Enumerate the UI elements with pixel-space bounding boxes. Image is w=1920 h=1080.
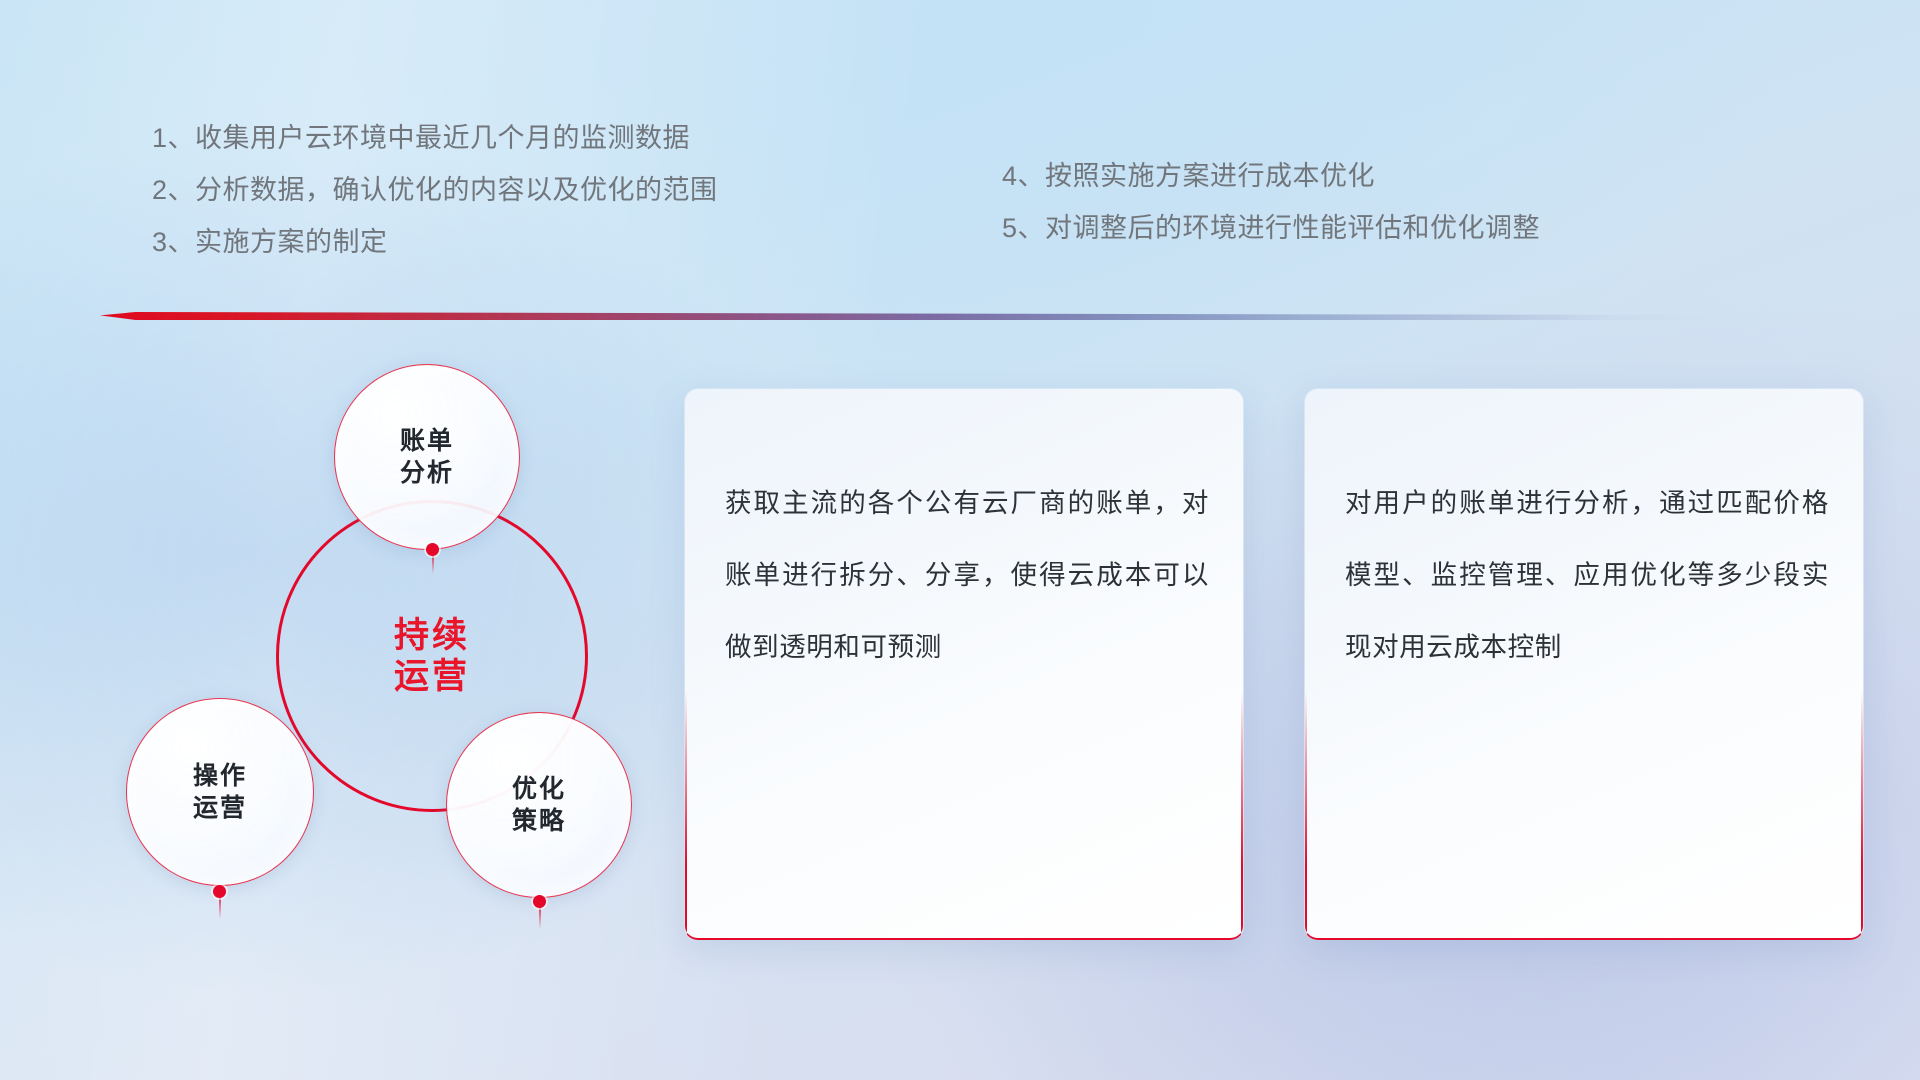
step-item: 4、按照实施方案进行成本优化 [1002, 150, 1540, 202]
diagram-bubble-optimization-strategy[interactable]: 优化 策略 [446, 712, 632, 898]
bubble-label-line2: 运营 [193, 792, 247, 824]
divider-line [100, 312, 1710, 320]
steps-right-column: 4、按照实施方案进行成本优化 5、对调整后的环境进行性能评估和优化调整 [1002, 150, 1540, 254]
info-card-cloud-cost-optimization[interactable]: 对用户的账单进行分析，通过匹配价格模型、监控管理、应用优化等多少段实现对用云成本… [1304, 388, 1864, 940]
bubble-label-line1: 操作 [193, 760, 247, 792]
slide-canvas: 1、收集用户云环境中最近几个月的监测数据 2、分析数据，确认优化的内容以及优化的… [0, 0, 1920, 1080]
step-item: 5、对调整后的环境进行性能评估和优化调整 [1002, 202, 1540, 254]
diagram-bubble-operations[interactable]: 操作 运营 [126, 698, 314, 886]
node-stem-left-icon [219, 895, 221, 919]
bubble-label-line2: 策略 [512, 805, 566, 837]
node-dot-top-icon [426, 543, 439, 556]
center-label-line2: 运营 [394, 656, 470, 697]
bubble-label-line1: 账单 [400, 425, 454, 457]
node-dot-right-icon [533, 895, 546, 908]
step-item: 2、分析数据，确认优化的内容以及优化的范围 [152, 164, 718, 216]
cycle-diagram: 持续 运营 账单 分析 操作 运营 优化 策略 [96, 352, 656, 952]
diagram-bubble-bill-analysis[interactable]: 账单 分析 [334, 364, 520, 550]
bubble-label-line2: 分析 [400, 457, 454, 489]
steps-left-column: 1、收集用户云环境中最近几个月的监测数据 2、分析数据，确认优化的内容以及优化的… [152, 112, 718, 268]
node-stem-right-icon [539, 905, 541, 929]
card-body-text: 获取主流的各个公有云厂商的账单，对账单进行拆分、分享，使得云成本可以做到透明和可… [725, 467, 1209, 683]
step-item: 1、收集用户云环境中最近几个月的监测数据 [152, 112, 718, 164]
bubble-label-line1: 优化 [512, 773, 566, 805]
card-body-text: 对用户的账单进行分析，通过匹配价格模型、监控管理、应用优化等多少段实现对用云成本… [1345, 467, 1829, 683]
section-divider [100, 312, 1710, 324]
info-card-multicloud-billing[interactable]: 获取主流的各个公有云厂商的账单，对账单进行拆分、分享，使得云成本可以做到透明和可… [684, 388, 1244, 940]
center-label-line1: 持续 [394, 615, 470, 656]
step-item: 3、实施方案的制定 [152, 216, 718, 268]
node-dot-left-icon [213, 885, 226, 898]
